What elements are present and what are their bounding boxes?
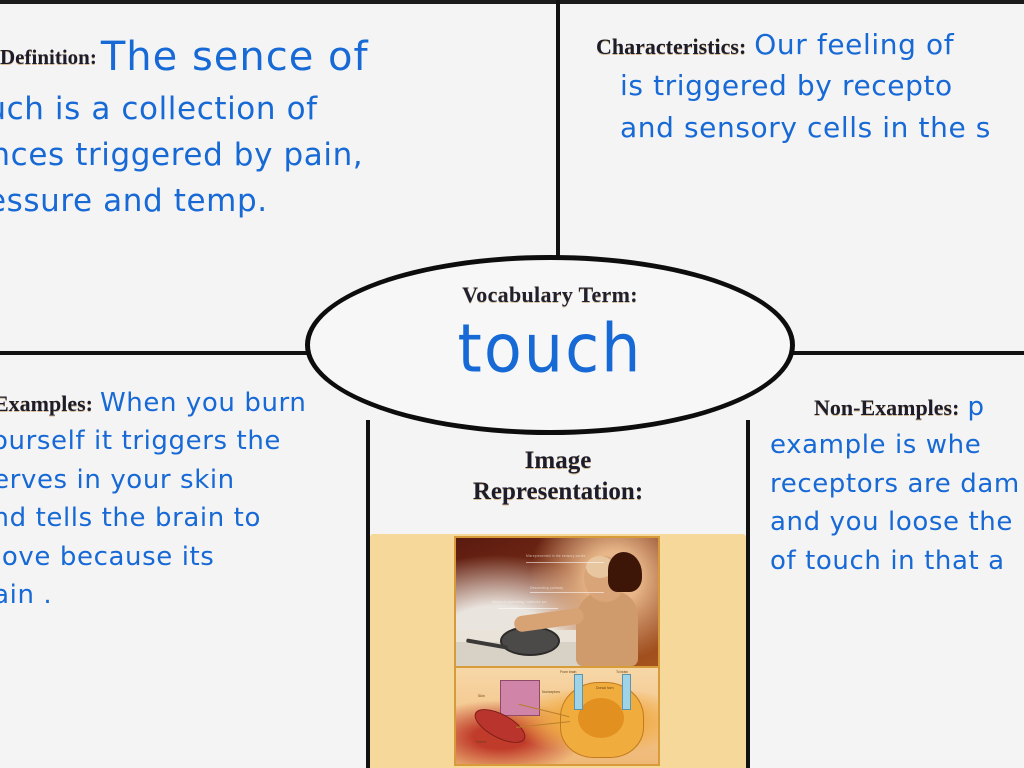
definition-first-line: Definition: The sence of xyxy=(0,28,548,87)
vocabulary-term-oval: Vocabulary Term: touch xyxy=(305,255,795,435)
image-representation-card: Misrepresented in the sensory cortex Des… xyxy=(370,534,746,768)
image-representation-label-line-2: Representation: xyxy=(370,477,746,508)
caption-leader-line-1 xyxy=(526,562,604,563)
definition-line-3: sences triggered by pain, xyxy=(0,133,548,179)
frayer-model-canvas: Definition: The sence of touch is a coll… xyxy=(0,0,1024,768)
thumbnail-caption-muscle: Muscle xyxy=(476,740,487,744)
examples-first-line: Examples: When you burn xyxy=(0,384,358,422)
definition-line-2: touch is a collection of xyxy=(0,87,548,133)
examples-line-6: pain . xyxy=(0,576,358,614)
non-examples-line-1: p xyxy=(967,388,984,426)
divider-horizontal-right xyxy=(790,351,1024,355)
caption-leader-line-2 xyxy=(530,592,604,593)
thumbnail-top-panel: Misrepresented in the sensory cortex Des… xyxy=(456,538,658,670)
examples-line-1: When you burn xyxy=(100,384,306,422)
thumbnail-caption-3: Sense of impending / reflexive arc xyxy=(492,600,547,604)
characteristics-line-3: and sensory cells in the s xyxy=(620,107,1024,148)
caption-leader-line-3 xyxy=(498,608,558,609)
quadrant-image-representation: Image Representation: xyxy=(370,424,746,768)
skin-sample-icon xyxy=(500,680,540,716)
non-examples-line-4: and you loose the xyxy=(770,503,1024,541)
divider-horizontal-left xyxy=(0,351,312,355)
vocabulary-term-value: touch xyxy=(458,309,643,388)
non-examples-first-line: Non-Examples: p xyxy=(814,388,1024,426)
woman-hair xyxy=(608,552,642,592)
vocabulary-term-label: Vocabulary Term: xyxy=(462,282,638,308)
characteristics-line-2: is triggered by recepto xyxy=(620,65,1024,106)
top-frame-edge xyxy=(0,0,1024,4)
characteristics-line-1: Our feeling of xyxy=(754,24,954,65)
characteristics-first-line: Characteristics: Our feeling of xyxy=(596,24,1024,65)
spinal-cord-inner xyxy=(578,698,624,738)
definition-line-1: The sence of xyxy=(101,34,369,80)
quadrant-examples: Examples: When you burn yourself it trig… xyxy=(0,358,366,768)
electrode-from-brain xyxy=(574,674,583,710)
definition-label: Definition: xyxy=(0,45,97,69)
image-representation-label: Image Representation: xyxy=(370,446,746,507)
examples-line-4: and tells the brain to xyxy=(0,499,358,537)
thumbnail-caption-to-brain: To brain xyxy=(616,670,628,674)
non-examples-line-3: receptors are dam xyxy=(770,465,1024,503)
thumbnail-bottom-panel: Skin Nociceptors Muscle From brain Dorsa… xyxy=(456,666,658,764)
electrode-to-brain xyxy=(622,674,631,710)
examples-label: Examples: xyxy=(0,391,93,417)
woman-torso xyxy=(576,592,638,666)
image-representation-label-line-1: Image xyxy=(370,446,746,477)
characteristics-label: Characteristics: xyxy=(596,34,746,60)
non-examples-line-5: of touch in that a xyxy=(770,542,1024,580)
non-examples-line-2: example is whe xyxy=(770,426,1024,464)
thumbnail-caption-from-brain: From brain xyxy=(560,670,576,674)
touch-pathway-thumbnail: Misrepresented in the sensory cortex Des… xyxy=(454,536,660,766)
thumbnail-caption-2: Descending pathway xyxy=(530,586,563,590)
thumbnail-caption-1: Misrepresented in the sensory cortex xyxy=(526,554,585,558)
examples-line-5: move because its xyxy=(0,538,358,576)
definition-line-4: pressure and temp. xyxy=(0,179,548,225)
thumbnail-caption-dorsal-horn: Dorsal horn xyxy=(596,686,614,690)
examples-line-2: yourself it triggers the xyxy=(0,422,358,460)
non-examples-label: Non-Examples: xyxy=(814,395,959,421)
thumbnail-caption-nociceptors: Nociceptors xyxy=(542,690,560,694)
thumbnail-caption-skin: Skin xyxy=(478,694,485,698)
quadrant-non-examples: Non-Examples: p example is whe receptors… xyxy=(750,358,1024,768)
examples-line-3: nerves in your skin xyxy=(0,461,358,499)
